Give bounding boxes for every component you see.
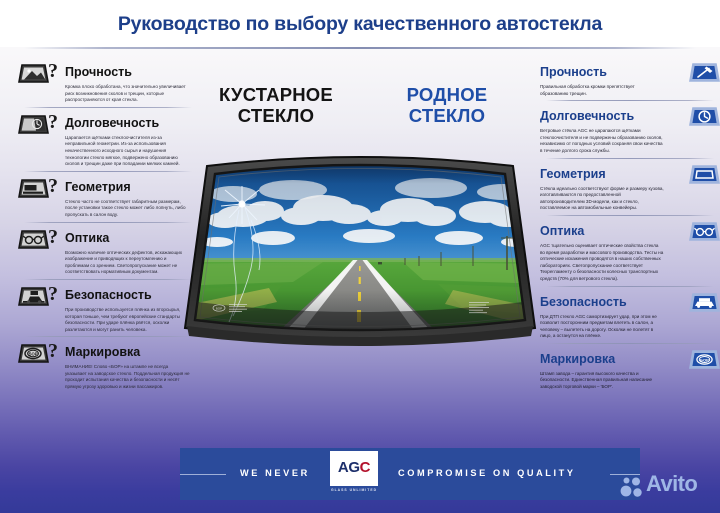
item-divider <box>24 171 192 172</box>
avito-watermark: Avito <box>620 470 716 504</box>
item-title: Маркировка <box>540 352 615 366</box>
label-line-1: РОДНОЕ <box>372 84 522 105</box>
list-item: ? Геометрия Стекло часто не соответствуе… <box>18 171 198 219</box>
avito-label: Avito <box>646 472 697 496</box>
item-title: Маркировка <box>65 345 140 359</box>
item-body: При ДТП стекло AGC самортизирует удар, п… <box>540 314 664 340</box>
list-item: Геометрия Стёкла идеально соответствуют … <box>540 158 720 212</box>
item-body: Штамп завода – гарантия высокого качеств… <box>540 371 664 391</box>
windshield-frame-icon <box>676 164 720 190</box>
question-mark: ? <box>48 341 58 361</box>
item-body: ВНИМАНИЕ! Слово «БОР» на штампе не всегд… <box>65 364 191 390</box>
windshield-chip-icon: ? <box>18 63 62 89</box>
list-item: ? Долговечность Царапается щётками стекл… <box>18 107 198 168</box>
windshield-wiper-scratch-icon: ? <box>18 114 62 140</box>
item-divider <box>24 279 192 280</box>
agc-logo-ag: AG <box>338 459 360 476</box>
item-body: Правильная обработка кромки препятствует… <box>540 84 664 97</box>
windshield-car-safety-icon <box>676 292 720 318</box>
windshield-safety-icon: ? <box>18 286 62 312</box>
item-title: Геометрия <box>540 167 606 181</box>
windshield-hammer-icon <box>676 62 720 88</box>
banner-rule-left <box>180 474 226 475</box>
windshield-bor-stamp-icon: БОР <box>676 349 720 375</box>
item-title: Безопасность <box>540 295 627 309</box>
list-item: Безопасность При ДТП стекло AGC самортиз… <box>540 286 720 340</box>
list-item: Оптика AGC тщательно оценивает оптически… <box>540 215 720 283</box>
item-divider <box>546 286 714 287</box>
list-item: ? Прочность Кромка плохо обработана, что… <box>18 56 198 104</box>
windshield-optics-icon: ? <box>18 229 62 255</box>
item-title: Долговечность <box>65 116 159 130</box>
agc-logo-c: C <box>360 459 370 476</box>
question-mark: ? <box>48 227 58 247</box>
label-line-1: КУСТАРНОЕ <box>196 84 356 105</box>
question-mark: ? <box>48 284 58 304</box>
item-divider <box>546 215 714 216</box>
list-item: БОР ? Маркировка ВНИМАНИЕ! Слово «БОР» н… <box>18 336 198 390</box>
question-mark: ? <box>48 61 58 81</box>
item-title: Безопасность <box>65 288 152 302</box>
agc-logo: AGC GLASS UNLIMITED <box>330 451 378 497</box>
right-column: Прочность Правильная обработка кромки пр… <box>540 56 720 394</box>
label-line-2: СТЕКЛО <box>196 105 356 126</box>
left-column: ? Прочность Кромка плохо обработана, что… <box>18 56 198 394</box>
item-body: Кромка плохо обработана, что значительно… <box>65 84 191 104</box>
item-divider <box>24 222 192 223</box>
list-item: БОР Маркировка Штамп завода – гарантия в… <box>540 343 720 391</box>
avito-dots-icon <box>620 476 644 498</box>
svg-text:БОР: БОР <box>28 352 37 357</box>
question-mark: ? <box>48 176 58 196</box>
item-divider <box>546 343 714 344</box>
agc-logo-subtitle: GLASS UNLIMITED <box>330 488 378 492</box>
list-item: Долговечность Ветровые стёкла AGC не цар… <box>540 100 720 154</box>
question-mark: ? <box>48 112 58 132</box>
header-bar: Руководство по выбору качественного авто… <box>0 0 720 47</box>
agc-banner: WE NEVER AGC GLASS UNLIMITED COMPROMISE … <box>180 448 640 500</box>
infographic-page: Руководство по выбору качественного авто… <box>0 0 720 513</box>
item-divider <box>24 107 192 108</box>
item-title: Прочность <box>65 65 132 79</box>
label-line-2: СТЕКЛО <box>372 105 522 126</box>
item-body: AGC тщательно оценивает оптические свойс… <box>540 243 664 283</box>
list-item: ? Оптика Возможно наличие оптических деф… <box>18 222 198 276</box>
item-body: Стёкла идеально соответствуют форме и ра… <box>540 186 664 212</box>
header-divider <box>24 47 696 49</box>
banner-text-left: WE NEVER <box>240 468 310 478</box>
item-divider <box>546 158 714 159</box>
windshield-glasses-icon <box>676 221 720 247</box>
item-title: Геометрия <box>65 180 131 194</box>
label-original-glass: РОДНОЕ СТЕКЛО <box>372 84 522 126</box>
list-item: ? Безопасность При производстве использу… <box>18 279 198 333</box>
windshield-geometry-icon: ? <box>18 178 62 204</box>
item-title: Долговечность <box>540 109 634 123</box>
svg-text:БОР: БОР <box>216 307 222 311</box>
list-item: Прочность Правильная обработка кромки пр… <box>540 56 720 97</box>
label-aftermarket-glass: КУСТАРНОЕ СТЕКЛО <box>196 84 356 126</box>
windshield-marking-icon: БОР ? <box>18 343 62 369</box>
item-divider <box>546 100 714 101</box>
svg-text:БОР: БОР <box>700 357 709 362</box>
agc-logo-text: AGC <box>330 460 378 476</box>
windshield-clock-icon <box>676 106 720 132</box>
windshield-illustration: БОР <box>173 150 547 365</box>
page-title: Руководство по выбору качественного авто… <box>0 13 720 36</box>
item-divider <box>24 336 192 337</box>
item-title: Оптика <box>65 231 109 245</box>
item-title: Прочность <box>540 65 607 79</box>
item-body: Ветровые стёкла AGC не царапаются щёткам… <box>540 128 664 154</box>
banner-text-right: COMPROMISE ON QUALITY <box>398 468 576 478</box>
